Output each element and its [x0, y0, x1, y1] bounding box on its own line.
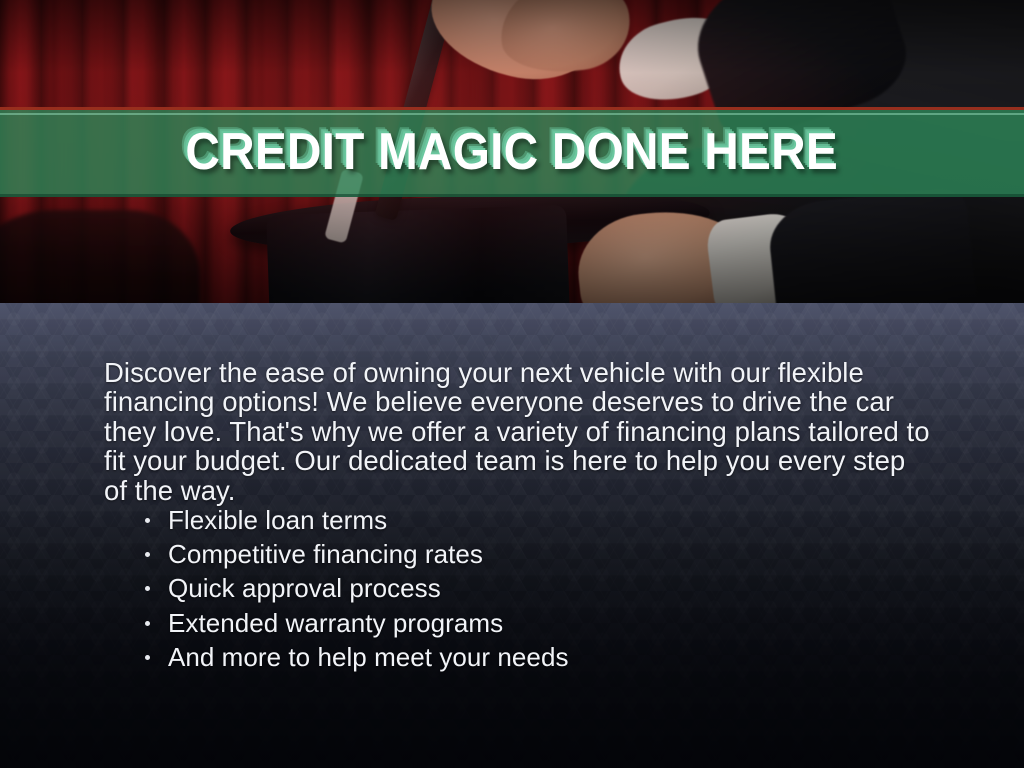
list-item-label: And more to help meet your needs	[168, 642, 569, 672]
promo-slide: CREDIT MAGIC DONE HERE Discover the ease…	[0, 0, 1024, 768]
list-item: Competitive financing rates	[140, 537, 569, 571]
list-item-label: Competitive financing rates	[168, 539, 483, 569]
bullet-dot-icon	[145, 552, 150, 557]
list-item-label: Flexible loan terms	[168, 505, 387, 535]
body-panel: Discover the ease of owning your next ve…	[0, 303, 1024, 768]
bullet-dot-icon	[145, 518, 150, 523]
list-item: Flexible loan terms	[140, 503, 569, 537]
intro-paragraph: Discover the ease of owning your next ve…	[104, 358, 932, 506]
page-title: CREDIT MAGIC DONE HERE	[186, 122, 839, 182]
bullet-dot-icon	[145, 621, 150, 626]
body-content: Discover the ease of owning your next ve…	[0, 303, 1024, 768]
list-item: And more to help meet your needs	[140, 640, 569, 674]
bullet-dot-icon	[145, 586, 150, 591]
list-item-label: Quick approval process	[168, 573, 441, 603]
benefits-list: Flexible loan terms Competitive financin…	[140, 503, 569, 674]
bullet-dot-icon	[145, 655, 150, 660]
title-banner: CREDIT MAGIC DONE HERE	[0, 107, 1024, 197]
list-item: Quick approval process	[140, 571, 569, 605]
list-item-label: Extended warranty programs	[168, 608, 503, 638]
list-item: Extended warranty programs	[140, 606, 569, 640]
